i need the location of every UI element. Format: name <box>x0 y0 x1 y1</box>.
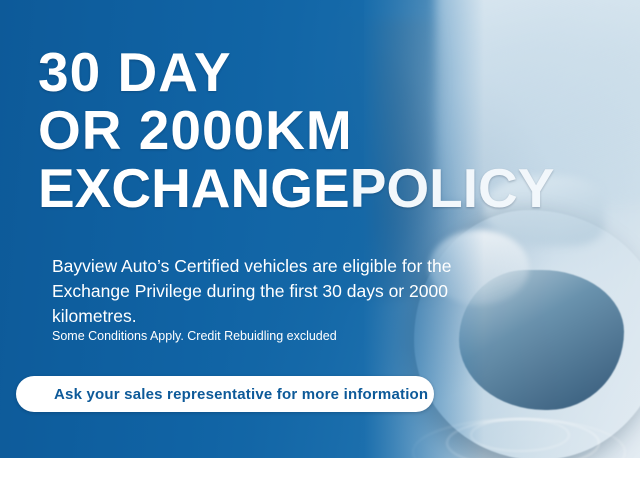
headline-line-3-exchange: EXCHANGE <box>38 157 350 219</box>
headline-line-2: OR 2000KM <box>38 104 554 158</box>
body-copy: Bayview Auto’s Certified vehicles are el… <box>52 254 482 329</box>
cta-button[interactable]: Ask your sales representative for more i… <box>16 376 434 412</box>
banner-content: 30 DAY OR 2000KM EXCHANGEPOLICY Bayview … <box>0 0 640 480</box>
promotional-banner: 30 DAY OR 2000KM EXCHANGEPOLICY Bayview … <box>0 0 640 480</box>
headline-line-1: 30 DAY <box>38 46 554 100</box>
cta-label: Ask your sales representative for more i… <box>54 386 428 403</box>
bottom-white-bar <box>0 458 640 480</box>
fineprint-disclaimer: Some Conditions Apply. Credit Rebuidling… <box>52 328 452 344</box>
headline-line-3-policy: POLICY <box>350 157 555 219</box>
headline-line-3: EXCHANGEPOLICY <box>38 162 554 216</box>
headline: 30 DAY OR 2000KM EXCHANGEPOLICY <box>38 46 554 216</box>
